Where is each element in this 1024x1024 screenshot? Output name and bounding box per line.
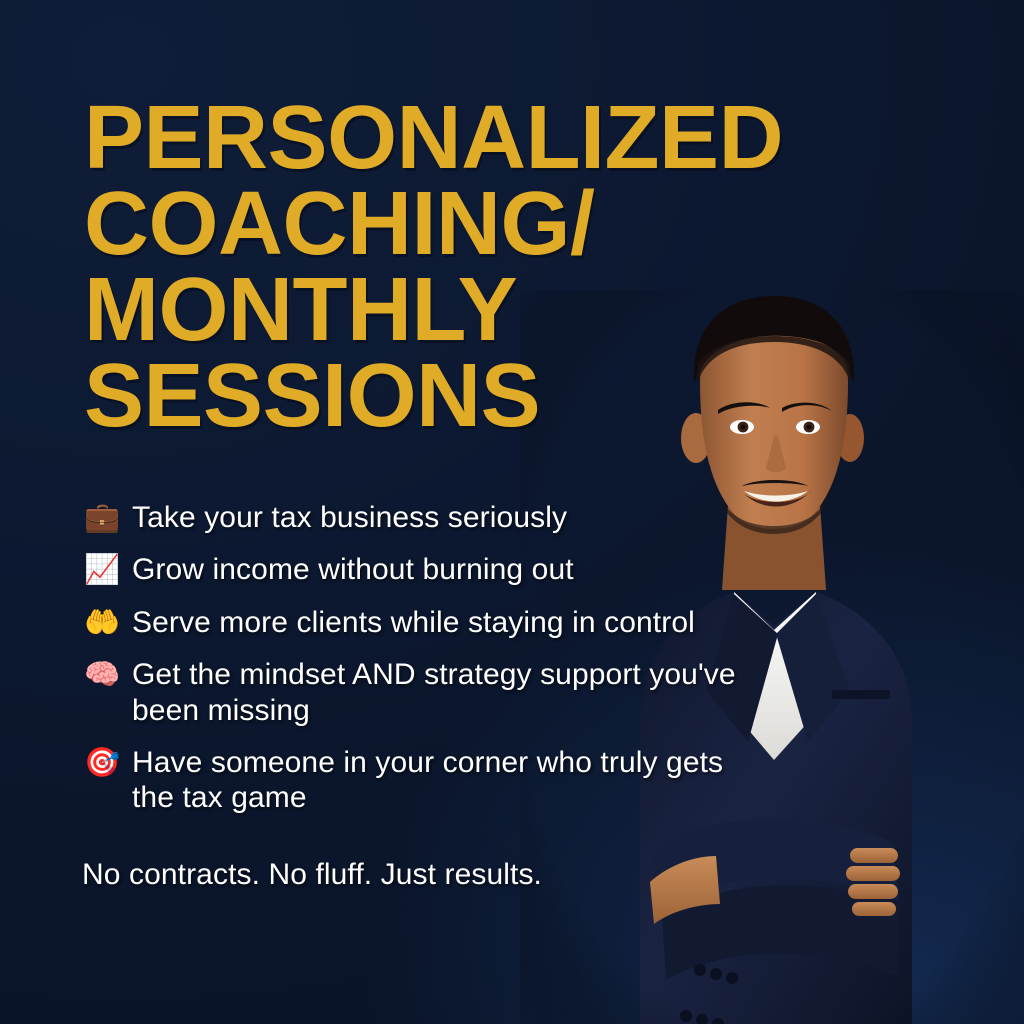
headline-line-2: COACHING/ <box>84 182 784 268</box>
tagline: No contracts. No fluff. Just results. <box>82 858 542 892</box>
page-title: PERSONALIZED COACHING/ MONTHLY SESSIONS <box>84 96 784 440</box>
briefcase-icon: 💼 <box>84 500 118 534</box>
bullet-text: Take your tax business seriously <box>132 500 567 535</box>
bullet-text: Serve more clients while staying in cont… <box>132 605 695 640</box>
list-item: 🤲 Serve more clients while staying in co… <box>84 605 744 640</box>
list-item: 🎯 Have someone in your corner who truly … <box>84 745 744 816</box>
direct-hit-icon: 🎯 <box>84 745 118 779</box>
palms-up-hands-icon: 🤲 <box>84 605 118 639</box>
list-item: 🧠 Get the mindset AND strategy support y… <box>84 657 744 728</box>
list-item: 📈 Grow income without burning out <box>84 552 744 587</box>
headline-line-4: SESSIONS <box>84 354 784 440</box>
bullet-text: Have someone in your corner who truly ge… <box>132 745 744 816</box>
bullet-text: Get the mindset AND strategy support you… <box>132 657 744 728</box>
benefit-list: 💼 Take your tax business seriously 📈 Gro… <box>84 500 744 833</box>
brain-icon: 🧠 <box>84 657 118 691</box>
list-item: 💼 Take your tax business seriously <box>84 500 744 535</box>
promo-graphic: PERSONALIZED COACHING/ MONTHLY SESSIONS … <box>0 0 1024 1024</box>
bullet-text: Grow income without burning out <box>132 552 574 587</box>
headline-line-1: PERSONALIZED <box>84 96 784 182</box>
chart-increasing-icon: 📈 <box>84 552 118 586</box>
headline-line-3: MONTHLY <box>84 268 784 354</box>
